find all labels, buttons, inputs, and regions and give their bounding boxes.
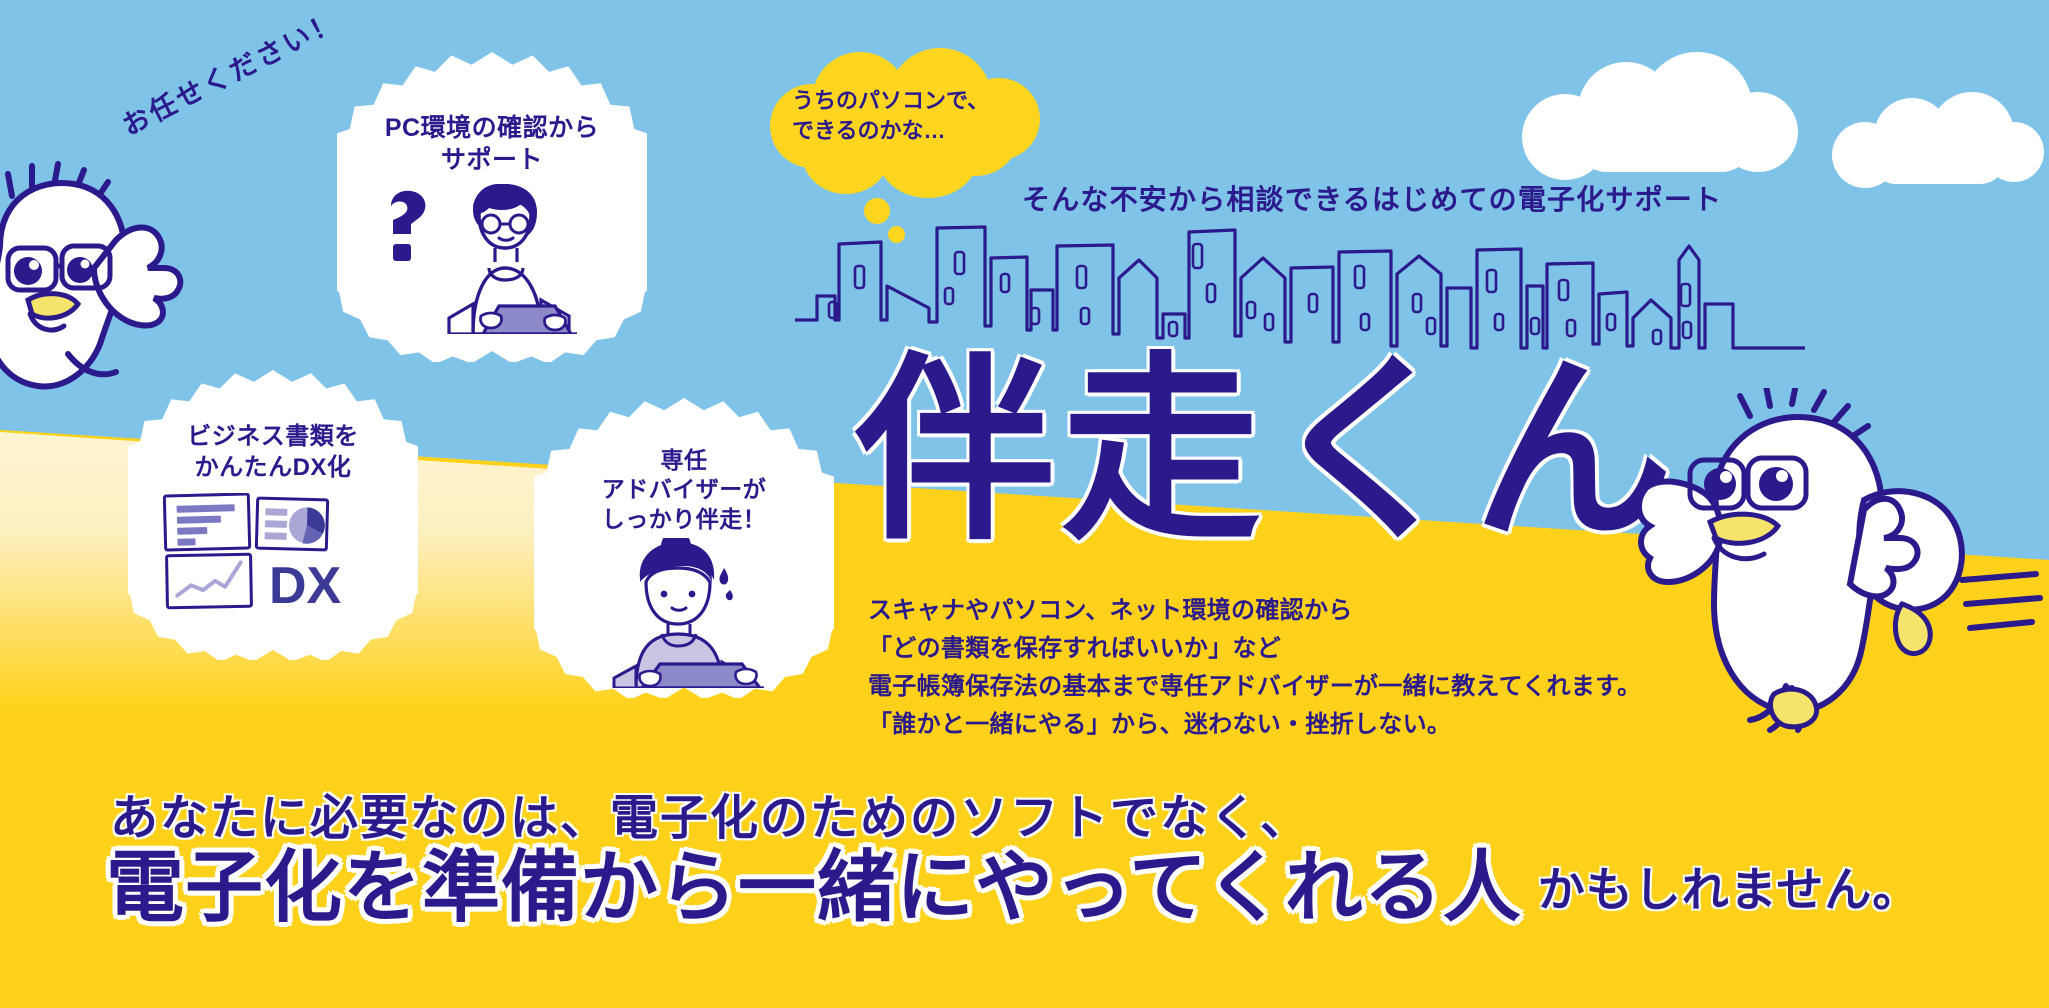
dx-label: DX (269, 557, 342, 613)
badge-advisor-title: 専任 アドバイザーが しっかり伴走！ (602, 446, 767, 534)
bird-running-icon (1628, 388, 2049, 778)
badge-advisor-illustration (584, 538, 784, 688)
thought-bubble-text: うちのパソコンで、 できるのかな… (792, 86, 1022, 147)
bottom-headline-emphasis: 電子化を準備から一緒にやってくれる人 (106, 848, 1522, 926)
thought-tail-dot-small (888, 226, 905, 243)
thought-bubble: うちのパソコンで、 できるのかな… (770, 48, 1040, 198)
badge-advisor-support: 専任 アドバイザーが しっかり伴走！ (534, 398, 834, 698)
bottom-headline-line1: あなたに必要なのは、電子化のためのソフトでなく、 (110, 778, 1310, 848)
tagline: そんな不安から相談できるはじめての電子化サポート (1022, 178, 1722, 218)
badge-dx-title: ビジネス書類を かんたんDX化 (187, 422, 359, 483)
bird-thumbs-up-icon (0, 128, 312, 418)
cloud-icon (1522, 50, 1822, 160)
body-copy: スキャナやパソコン、ネット環境の確認から 「どの書類を保存すればいいか」など 電… (868, 592, 1641, 744)
city-skyline (795, 222, 1805, 352)
bottom-headline-line2: 電子化を準備から一緒にやってくれる人 かもしれません。 (106, 848, 1920, 926)
page-title: 伴走くん (855, 352, 1679, 552)
banner-canvas: お任せください！ PC環境の確認から サポート (0, 0, 2049, 1008)
badge-dx-illustration: DX (163, 493, 383, 613)
badge-pc-illustration (377, 184, 607, 334)
thought-tail-dot-large (864, 198, 890, 224)
badge-pc-title: PC環境の確認から サポート (385, 112, 599, 176)
badge-dx-documents: ビジネス書類を かんたんDX化 (128, 370, 418, 660)
badge-pc-support: PC環境の確認から サポート (337, 52, 647, 362)
bottom-headline-suffix: かもしれません。 (1538, 851, 1921, 926)
cloud-icon (1832, 90, 2049, 176)
